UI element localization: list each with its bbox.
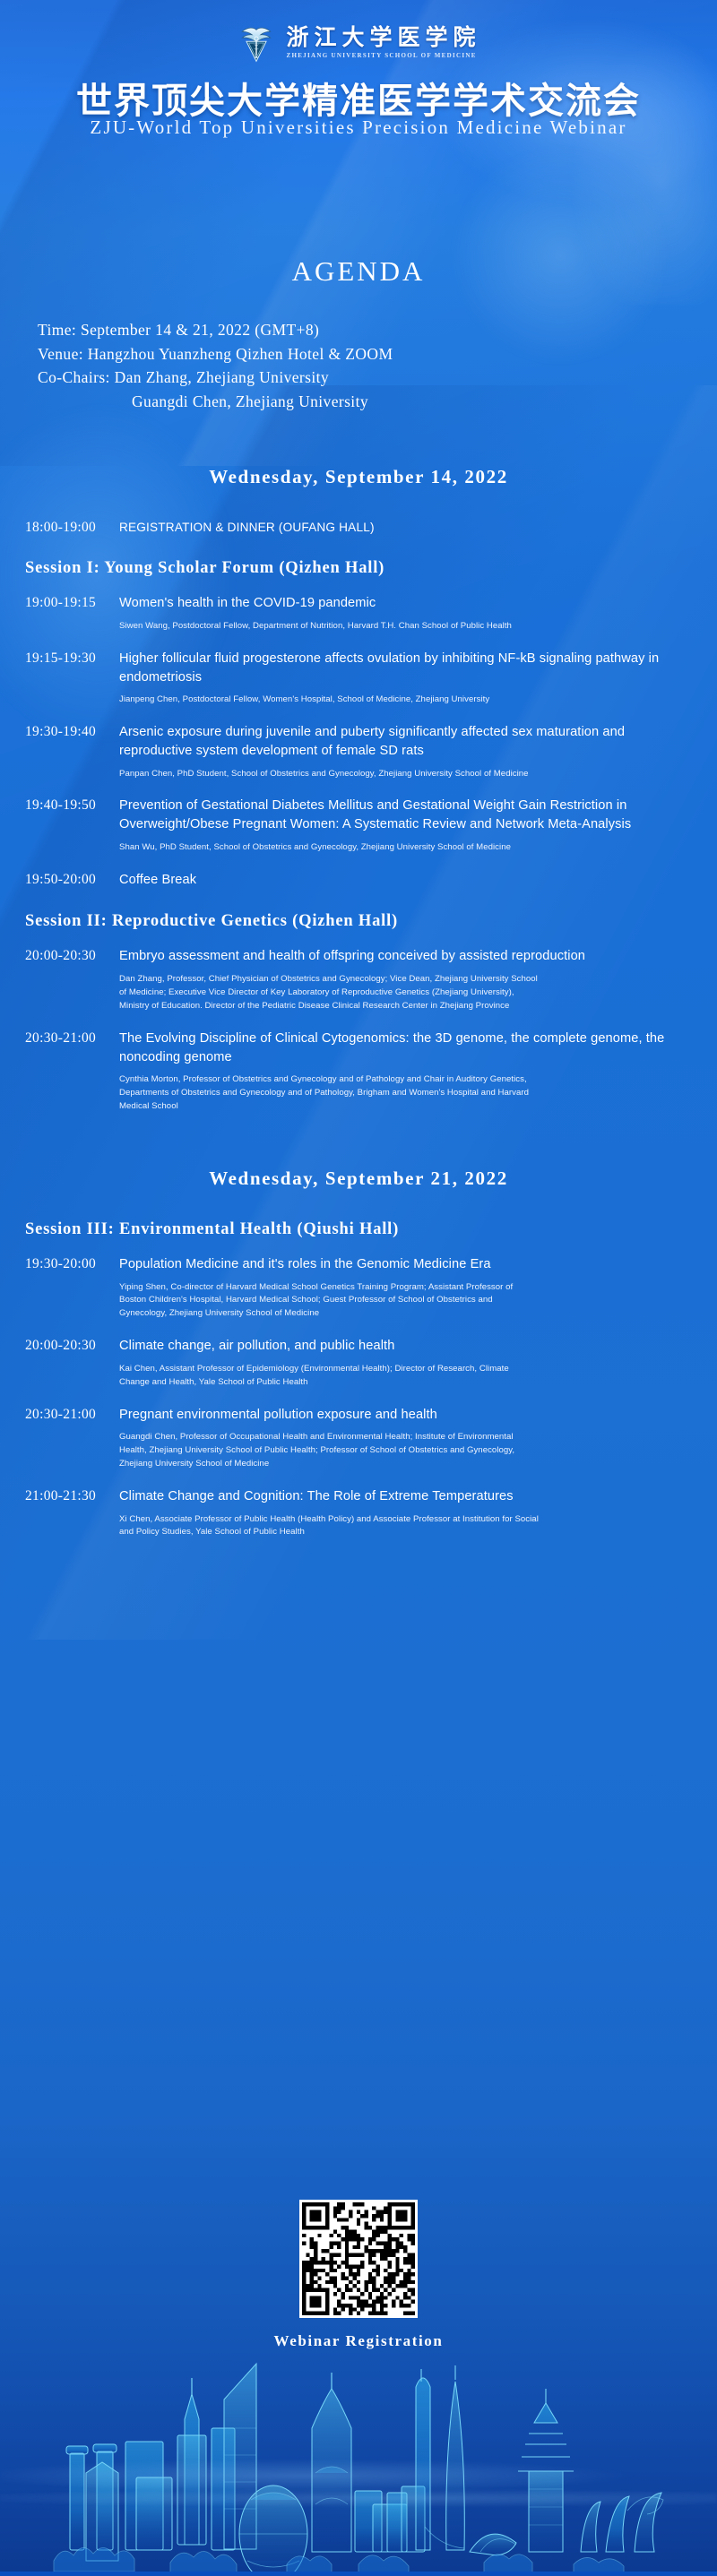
agenda-item-time: 19:00-19:15 [25,594,119,633]
logo-chinese-name: 浙江大学医学院 [286,27,480,50]
agenda-item-speaker: Cynthia Morton, Professor of Obstetrics … [119,1073,540,1114]
qr-code[interactable] [299,2200,418,2318]
city-skyline-illustration [0,2321,717,2572]
agenda-item-title: REGISTRATION & DINNER (OUFANG HALL) [119,519,690,536]
agenda-item-time: 21:00-21:30 [25,1487,119,1539]
agenda-item-speaker: Xi Chen, Associate Professor of Public H… [119,1513,540,1540]
logo-text-block: 浙江大学医学院 ZHEJIANG UNIVERSITY SCHOOL OF ME… [286,27,480,61]
agenda-item: 20:30-21:00Pregnant environmental pollut… [0,1406,717,1471]
agenda-item: 20:30-21:00The Evolving Discipline of Cl… [0,1030,717,1114]
agenda-item: 19:50-20:00Coffee Break [0,871,717,890]
agenda-item-speaker: Jianpeng Chen, Postdoctoral Fellow, Wome… [119,694,540,707]
horizon-glow [0,2435,717,2516]
agenda-item-title: The Evolving Discipline of Clinical Cyto… [119,1030,690,1066]
agenda-item-speaker: Shan Wu, PhD Student, School of Obstetri… [119,841,540,855]
agenda-item-body: Prevention of Gestational Diabetes Melli… [119,797,690,854]
agenda-item-time: 19:15-19:30 [25,650,119,707]
agenda-item-speaker: Dan Zhang, Professor, Chief Physician of… [119,973,540,1013]
agenda-item: 18:00-19:00REGISTRATION & DINNER (OUFANG… [0,519,717,536]
day-heading: Wednesday, September 14, 2022 [0,466,717,488]
agenda-item-title: Pregnant environmental pollution exposur… [119,1406,690,1425]
day-heading: Wednesday, September 21, 2022 [0,1167,717,1190]
agenda-item-body: Arsenic exposure during juvenile and pub… [119,723,690,780]
agenda-item: 19:30-19:40Arsenic exposure during juven… [0,723,717,780]
agenda-item-body: Higher follicular fluid progesterone aff… [119,650,690,707]
university-logo: 浙江大学医学院 ZHEJIANG UNIVERSITY SCHOOL OF ME… [0,23,717,65]
agenda-item-title: Higher follicular fluid progesterone aff… [119,650,690,686]
agenda-item-body: Climate Change and Cognition: The Role o… [119,1487,690,1539]
agenda-item-time: 19:30-19:40 [25,723,119,780]
agenda-item-speaker: Kai Chen, Assistant Professor of Epidemi… [119,1363,540,1390]
agenda-item-time: 19:50-20:00 [25,871,119,890]
agenda-item-body: Coffee Break [119,871,690,890]
poster-title-english: ZJU-World Top Universities Precision Med… [0,116,717,139]
agenda-item-title: Coffee Break [119,871,690,890]
agenda-item-time: 18:00-19:00 [25,519,119,536]
caduceus-wings-emblem-icon [236,23,277,65]
agenda-item-body: Embryo assessment and health of offsprin… [119,947,690,1012]
agenda-item-body: Climate change, air pollution, and publi… [119,1337,690,1389]
agenda-item-body: REGISTRATION & DINNER (OUFANG HALL) [119,519,690,536]
agenda-item-body: The Evolving Discipline of Clinical Cyto… [119,1030,690,1114]
agenda-item: 21:00-21:30Climate Change and Cognition:… [0,1487,717,1539]
agenda-item-speaker: Guangdi Chen, Professor of Occupational … [119,1431,540,1471]
agenda-item: 19:40-19:50Prevention of Gestational Dia… [0,797,717,854]
agenda-item-time: 20:30-21:00 [25,1406,119,1471]
agenda-heading: AGENDA [0,255,717,288]
agenda-item-body: Population Medicine and it's roles in th… [119,1255,690,1321]
agenda-body: Wednesday, September 14, 202218:00-19:00… [0,466,717,1555]
agenda-item-title: Climate Change and Cognition: The Role o… [119,1487,690,1506]
agenda-item: 20:00-20:30Climate change, air pollution… [0,1337,717,1389]
agenda-item-speaker: Siwen Wang, Postdoctoral Fellow, Departm… [119,620,540,633]
agenda-item-body: Pregnant environmental pollution exposur… [119,1406,690,1471]
agenda-item-title: Climate change, air pollution, and publi… [119,1337,690,1356]
logo-english-name: ZHEJIANG UNIVERSITY SCHOOL OF MEDICINE [286,52,480,61]
agenda-item: 19:30-20:00Population Medicine and it's … [0,1255,717,1321]
agenda-item-time: 20:30-21:00 [25,1030,119,1114]
agenda-item-title: Population Medicine and it's roles in th… [119,1255,690,1274]
agenda-item: 19:15-19:30Higher follicular fluid proge… [0,650,717,707]
agenda-item-title: Women's health in the COVID-19 pandemic [119,594,690,613]
agenda-item-time: 20:00-20:30 [25,947,119,1012]
agenda-item-title: Prevention of Gestational Diabetes Melli… [119,797,690,833]
agenda-item-time: 19:40-19:50 [25,797,119,854]
event-cochairs-line-2: Guangdi Chen, Zhejiang University [38,390,665,414]
agenda-item-title: Arsenic exposure during juvenile and pub… [119,723,690,760]
registration-block: Webinar Registration [0,2200,717,2350]
qr-caption: Webinar Registration [0,2332,717,2350]
session-heading: Session III: Environmental Health (Qiush… [0,1220,717,1239]
agenda-item-speaker: Panpan Chen, PhD Student, School of Obst… [119,768,540,781]
event-meta-block: Time: September 14 & 21, 2022 (GMT+8) Ve… [38,318,665,413]
agenda-item-title: Embryo assessment and health of offsprin… [119,947,690,966]
session-heading: Session II: Reproductive Genetics (Qizhe… [0,912,717,931]
agenda-item-body: Women's health in the COVID-19 pandemicS… [119,594,690,633]
agenda-item: 20:00-20:30Embryo assessment and health … [0,947,717,1012]
agenda-item-speaker: Yiping Shen, Co-director of Harvard Medi… [119,1281,540,1322]
event-venue: Venue: Hangzhou Yuanzheng Qizhen Hotel &… [38,342,665,366]
event-cochairs-line-1: Co-Chairs: Dan Zhang, Zhejiang Universit… [38,366,665,390]
event-time: Time: September 14 & 21, 2022 (GMT+8) [38,318,665,342]
agenda-item-time: 19:30-20:00 [25,1255,119,1321]
agenda-item: 19:00-19:15Women's health in the COVID-1… [0,594,717,633]
session-heading: Session I: Young Scholar Forum (Qizhen H… [0,559,717,578]
agenda-item-time: 20:00-20:30 [25,1337,119,1389]
